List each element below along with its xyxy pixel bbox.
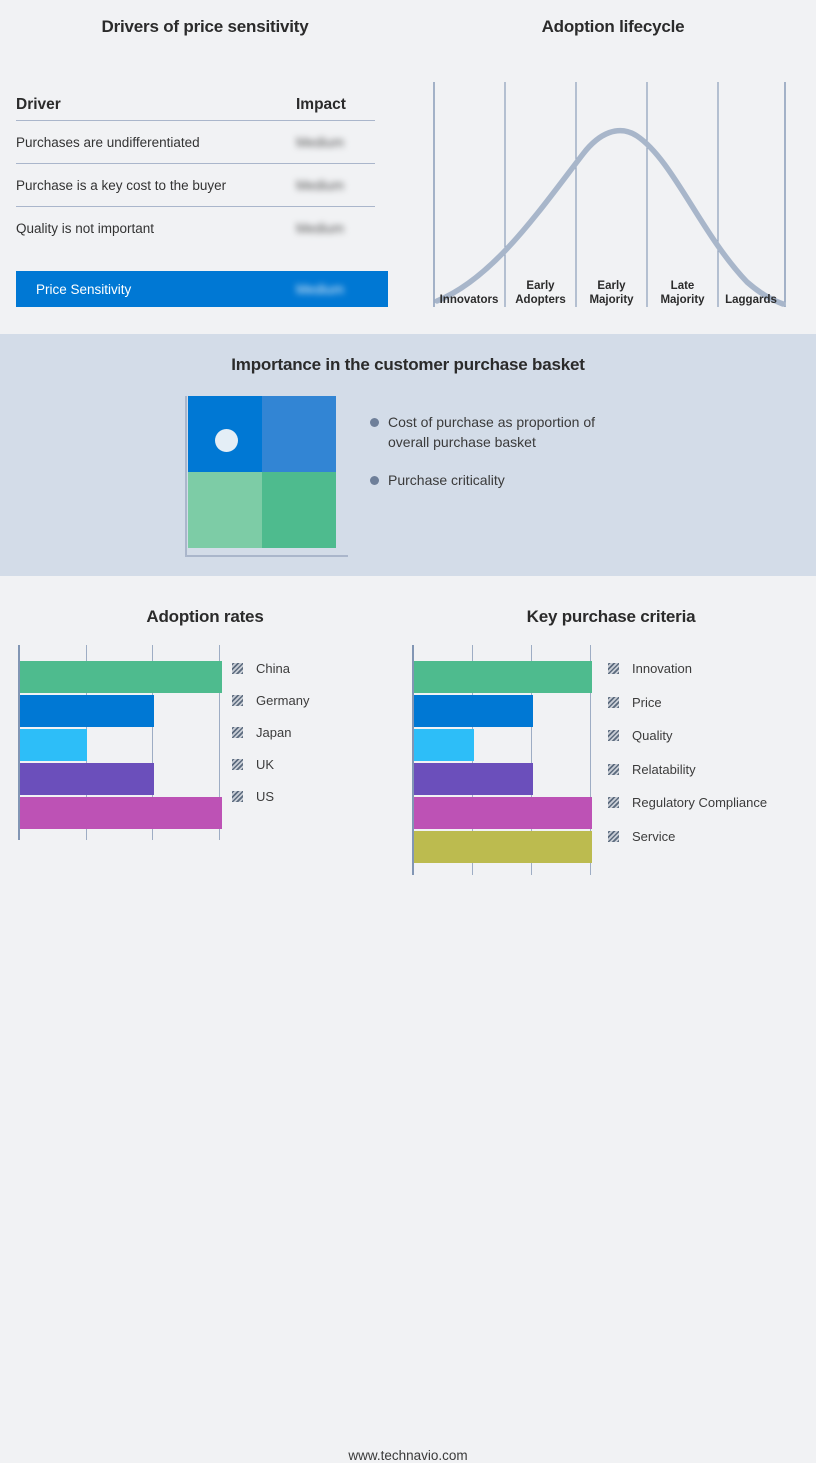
matrix-legend: Cost of purchase as proportion of overal…	[370, 412, 700, 508]
adoption-rates-title: Adoption rates	[0, 607, 410, 627]
bullet-dot-icon	[370, 476, 379, 485]
bullet-dot-icon	[370, 418, 379, 427]
hatched-square-icon	[232, 759, 243, 770]
matrix-quadrant-top-right	[262, 396, 336, 472]
legend-item-japan: Japan	[232, 716, 309, 748]
adoption-rates-legend: China Germany Japan UK US	[232, 652, 309, 812]
adoption-lifecycle-panel: Adoption lifecycle Innovators EarlyAdopt…	[410, 0, 816, 334]
legend-item-price: Price	[608, 686, 767, 720]
bar-china	[20, 661, 222, 693]
legend-item-regulatory-compliance: Regulatory Compliance	[608, 786, 767, 820]
driver-label: Purchases are undifferentiated	[16, 135, 296, 150]
matrix-quadrant-bottom-right	[262, 472, 336, 548]
matrix-y-axis	[185, 396, 187, 556]
bar-slot-us	[20, 797, 222, 829]
lifecycle-segment-labels: Innovators EarlyAdopters EarlyMajority L…	[433, 270, 801, 310]
bar-slot-service	[414, 831, 596, 863]
footer-url: www.technavio.com	[0, 1448, 816, 1463]
bar-regulatory-compliance	[414, 797, 592, 829]
adoption-rates-panel: Adoption rates	[0, 576, 410, 902]
hatched-square-icon	[608, 663, 619, 674]
legend-item-china: China	[232, 652, 309, 684]
column-header-driver: Driver	[16, 96, 296, 114]
top-section: Drivers of price sensitivity Driver Impa…	[0, 0, 816, 334]
legend-label: UK	[256, 757, 274, 772]
table-header-row: Driver Impact	[16, 90, 388, 120]
table-row: Quality is not important Medium	[16, 207, 388, 249]
adoption-rates-chart	[18, 645, 222, 840]
legend-label: Price	[632, 695, 662, 710]
matrix-quadrant-bottom-left	[188, 472, 262, 548]
lifecycle-label-early-majority: EarlyMajority	[576, 270, 647, 310]
legend-label: Service	[632, 829, 675, 844]
legend-label: US	[256, 789, 274, 804]
hatched-square-icon	[232, 695, 243, 706]
bar-us	[20, 797, 222, 829]
column-header-impact: Impact	[296, 96, 388, 114]
lifecycle-label-early-adopters: EarlyAdopters	[505, 270, 576, 310]
bar-quality	[414, 729, 474, 761]
legend-label: Cost of purchase as proportion of overal…	[388, 412, 638, 452]
bar-slot-innovation	[414, 661, 596, 693]
price-sensitivity-highlight-row: Price Sensitivity Medium	[16, 271, 388, 307]
hatched-square-icon	[608, 730, 619, 741]
key-purchase-criteria-legend: Innovation Price Quality Relatability Re…	[608, 652, 767, 853]
key-purchase-criteria-chart	[412, 645, 596, 875]
key-purchase-criteria-panel: Key purchase criteria	[406, 576, 816, 902]
legend-item-quality: Quality	[608, 719, 767, 753]
adoption-bars	[20, 661, 222, 829]
drivers-of-price-sensitivity-panel: Drivers of price sensitivity Driver Impa…	[0, 0, 410, 334]
key-purchase-criteria-title: Key purchase criteria	[406, 607, 816, 627]
matrix-position-marker	[215, 429, 238, 452]
bar-relatability	[414, 763, 533, 795]
matrix-quadrant-grid	[188, 396, 336, 548]
bottom-section: Adoption rates	[0, 576, 816, 902]
hatched-square-icon	[608, 831, 619, 842]
legend-item-relatability: Relatability	[608, 753, 767, 787]
legend-label: Japan	[256, 725, 291, 740]
lifecycle-label-laggards: Laggards	[718, 270, 784, 310]
bar-price	[414, 695, 533, 727]
legend-item-uk: UK	[232, 748, 309, 780]
bar-slot-quality	[414, 729, 596, 761]
legend-item-germany: Germany	[232, 684, 309, 716]
bar-service	[414, 831, 592, 863]
legend-label: Relatability	[632, 762, 696, 777]
bar-slot-japan	[20, 729, 222, 761]
bar-slot-price	[414, 695, 596, 727]
legend-item-innovation: Innovation	[608, 652, 767, 686]
bar-slot-uk	[20, 763, 222, 795]
purchase-basket-matrix	[178, 396, 343, 564]
hatched-square-icon	[232, 727, 243, 738]
lifecycle-label-late-majority: LateMajority	[647, 270, 718, 310]
legend-label: Regulatory Compliance	[632, 795, 767, 810]
drivers-panel-title: Drivers of price sensitivity	[0, 17, 410, 37]
table-row: Purchase is a key cost to the buyer Medi…	[16, 164, 388, 206]
legend-label: China	[256, 661, 290, 676]
bar-japan	[20, 729, 87, 761]
legend-label: Germany	[256, 693, 309, 708]
matrix-x-axis	[185, 555, 348, 557]
impact-value: Medium	[296, 221, 388, 236]
legend-item: Cost of purchase as proportion of overal…	[370, 412, 700, 452]
hatched-square-icon	[608, 797, 619, 808]
impact-value: Medium	[296, 135, 388, 150]
matrix-quadrant-top-left	[188, 396, 262, 472]
legend-label: Purchase criticality	[388, 470, 505, 490]
hatched-square-icon	[232, 663, 243, 674]
drivers-table: Driver Impact Purchases are undifferenti…	[16, 90, 388, 249]
price-sensitivity-label: Price Sensitivity	[16, 282, 296, 297]
hatched-square-icon	[608, 764, 619, 775]
legend-label: Innovation	[632, 661, 692, 676]
bar-slot-relatability	[414, 763, 596, 795]
legend-item-service: Service	[608, 820, 767, 854]
table-row: Purchases are undifferentiated Medium	[16, 121, 388, 163]
bar-slot-regulatory-compliance	[414, 797, 596, 829]
criteria-bars	[414, 661, 596, 863]
legend-item-us: US	[232, 780, 309, 812]
bar-innovation	[414, 661, 592, 693]
hatched-square-icon	[608, 697, 619, 708]
impact-value: Medium	[296, 178, 388, 193]
bar-slot-china	[20, 661, 222, 693]
legend-label: Quality	[632, 728, 672, 743]
importance-in-purchase-basket-section: Importance in the customer purchase bask…	[0, 334, 816, 576]
importance-panel-title: Importance in the customer purchase bask…	[0, 355, 816, 375]
driver-label: Quality is not important	[16, 221, 296, 236]
price-sensitivity-impact-value: Medium	[296, 282, 388, 297]
bar-germany	[20, 695, 154, 727]
legend-item: Purchase criticality	[370, 470, 700, 490]
lifecycle-label-innovators: Innovators	[433, 270, 505, 310]
lifecycle-panel-title: Adoption lifecycle	[410, 17, 816, 37]
bar-uk	[20, 763, 154, 795]
driver-label: Purchase is a key cost to the buyer	[16, 178, 296, 193]
bar-slot-germany	[20, 695, 222, 727]
hatched-square-icon	[232, 791, 243, 802]
